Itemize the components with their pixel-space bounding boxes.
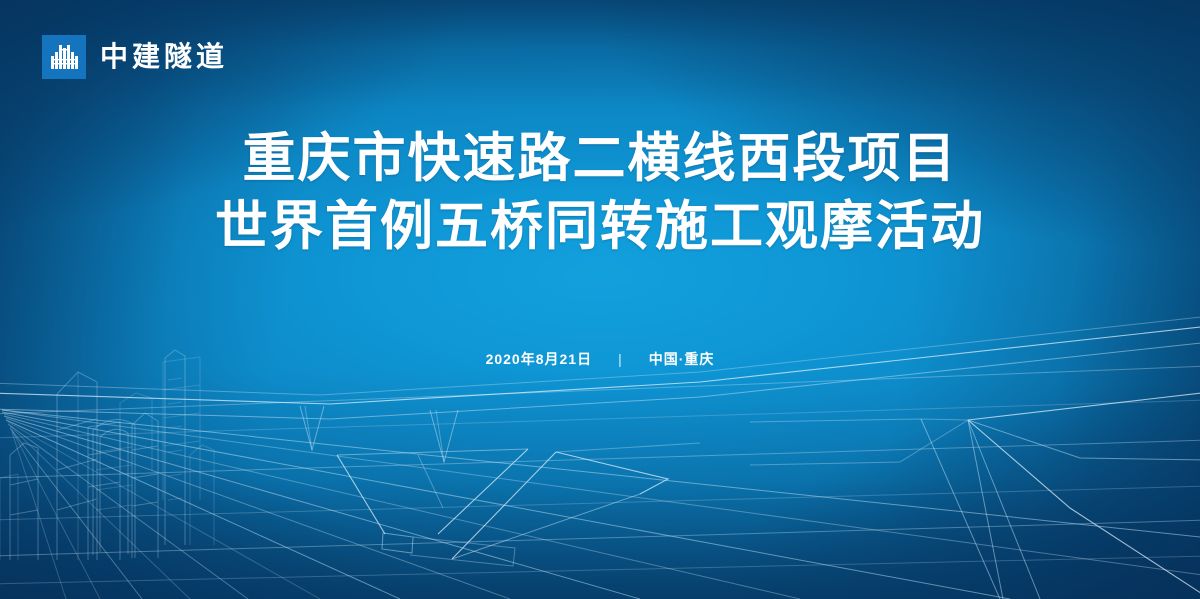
poster-canvas: 中建隧道 重庆市快速路二横线西段项目 世界首例五桥同转施工观摩活动 2020年8…	[0, 0, 1200, 599]
brand-logo[interactable]: 中建隧道	[42, 35, 228, 79]
event-location: 中国·重庆	[649, 349, 715, 369]
wireframe-bridge-piers	[300, 406, 700, 566]
event-meta: 2020年8月21日 | 中国·重庆	[0, 349, 1200, 369]
wireframe-road-lines	[0, 366, 1200, 599]
poster-title: 重庆市快速路二横线西段项目 世界首例五桥同转施工观摩活动	[0, 125, 1200, 262]
meta-separator: |	[618, 351, 623, 367]
title-line-2: 世界首例五桥同转施工观摩活动	[0, 193, 1200, 261]
wireframe-artwork	[0, 0, 1200, 599]
wireframe-right-structure	[750, 392, 1200, 599]
event-date: 2020年8月21日	[486, 349, 593, 369]
title-line-1: 重庆市快速路二横线西段项目	[0, 125, 1200, 193]
cscec-square-logo-icon	[42, 35, 86, 79]
brand-name: 中建隧道	[100, 43, 228, 71]
